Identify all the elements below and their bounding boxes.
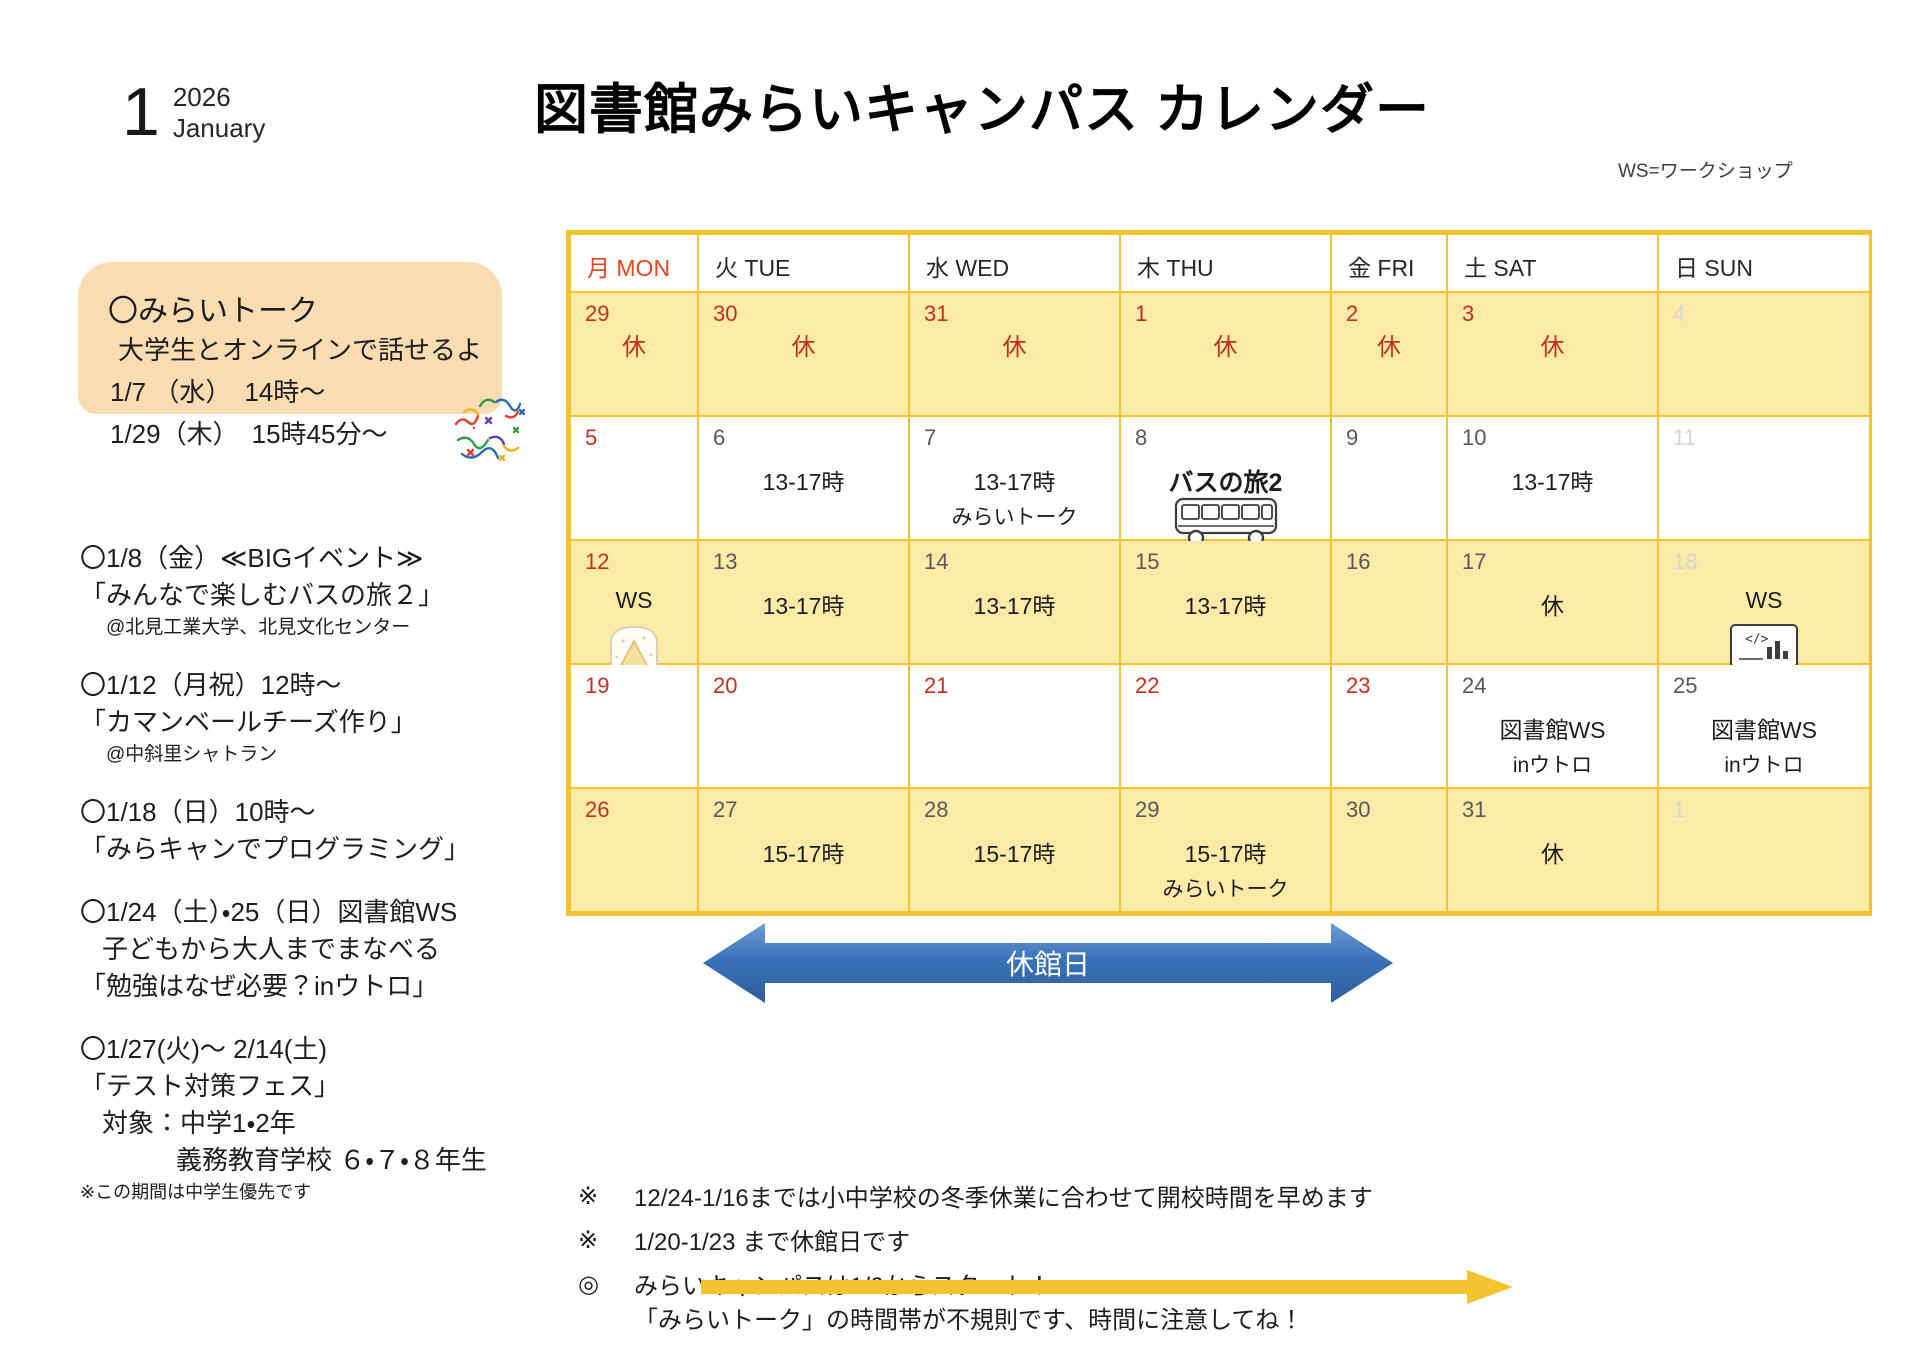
day-cell-23[interactable]: 23 [1331, 664, 1447, 788]
day-number: 29 [1135, 797, 1159, 823]
day-cell-14[interactable]: 14 13-17時 [909, 540, 1120, 664]
day-event-sub: inウトロ [1448, 749, 1657, 779]
callout-line1: 大学生とオンラインで話せるよ [118, 330, 482, 367]
day-event-main: 図書館WS [1659, 711, 1869, 745]
day-event-main: 休 [1448, 587, 1657, 621]
event-title: 〇1/18（日）10時〜 [80, 794, 510, 831]
day-event-sub: みらいトーク [1121, 873, 1330, 903]
day-number: 31 [924, 301, 948, 327]
month-name-label: January [173, 113, 266, 144]
day-number: 30 [713, 301, 737, 327]
column-header-sun: 日 SUN [1658, 234, 1870, 292]
footnote-row: ※ 12/24-1/16までは小中学校の冬季休業に合わせて開校時間を早めます [578, 1182, 1373, 1216]
column-header-thu: 木 THU [1120, 234, 1331, 292]
column-header-mon: 月 MON [570, 234, 698, 292]
calendar-week-row: 29 休 30 休 31 休 1 休 [570, 292, 1870, 416]
footnote-text: 12/24-1/16までは小中学校の冬季休業に合わせて開校時間を早めます [634, 1182, 1373, 1216]
day-number: 24 [1462, 673, 1486, 699]
col-jp: 火 [715, 255, 738, 281]
ws-legend-note: WS=ワークショップ [1618, 156, 1793, 183]
day-cell-2[interactable]: 2 休 [1331, 292, 1447, 416]
month-year-label: 2026 January [173, 82, 266, 144]
day-event-main: 休 [1448, 327, 1657, 362]
day-number: 1 [1673, 797, 1685, 823]
col-jp: 土 [1464, 255, 1487, 281]
event-title: 〇1/12（月祝）12時〜 [80, 667, 510, 704]
day-event-sub: みらいトーク [910, 501, 1119, 531]
year-label: 2026 [173, 82, 266, 113]
day-number: 28 [924, 797, 948, 823]
day-event-main: WS [1659, 587, 1869, 614]
day-cell-4[interactable]: 4 [1658, 292, 1870, 416]
event-venue: @北見工業大学、北見文化センター [80, 614, 510, 641]
footnote-subtext: 「みらいトーク」の時間帯が不規則です、時間に注意してね！ [634, 1304, 1303, 1338]
day-cell-7[interactable]: 7 13-17時 みらいトーク [909, 416, 1120, 540]
event-item: 〇1/8（金）≪BIGイベント≫ 「みんなで楽しむバスの旅２」 @北見工業大学、… [80, 540, 510, 641]
day-cell-1[interactable]: 1 休 [1120, 292, 1331, 416]
day-number: 20 [713, 673, 737, 699]
day-cell-5[interactable]: 5 [570, 416, 698, 540]
calendar-week-row: 26 27 15-17時 28 15-17時 29 15-17時 みらいトーク [570, 788, 1870, 912]
day-cell-29[interactable]: 29 休 [570, 292, 698, 416]
day-number: 23 [1346, 673, 1370, 699]
day-number: 10 [1462, 425, 1486, 451]
event-item: 〇1/18（日）10時〜 「みらキャンでプログラミング」 [80, 794, 510, 868]
day-event-main: 13-17時 [699, 463, 908, 497]
day-cell-31b[interactable]: 31 休 [1447, 788, 1658, 912]
footnote-mark: ◎ [578, 1270, 634, 1299]
day-cell-26[interactable]: 26 [570, 788, 698, 912]
day-event-main: 13-17時 [910, 587, 1119, 621]
col-en: TUE [744, 255, 790, 281]
day-cell-1b[interactable]: 1 [1658, 788, 1870, 912]
day-number: 18 [1673, 549, 1697, 575]
day-number: 13 [713, 549, 737, 575]
day-event-main: WS [571, 587, 697, 614]
event-item: 〇1/12（月祝）12時〜 「カマンベールチーズ作り」 @中斜里シャトラン [80, 667, 510, 768]
day-number: 15 [1135, 549, 1159, 575]
footnote-row: ※ 1/20-1/23 まで休館日です [578, 1226, 1373, 1260]
calendar-header-row: 月 MON 火 TUE 水 WED 木 THU [570, 234, 1870, 292]
col-en: SUN [1704, 255, 1753, 281]
day-cell-28[interactable]: 28 15-17時 [909, 788, 1120, 912]
event-subtitle: 「みんなで楽しむバスの旅２」 [80, 577, 510, 614]
day-event-main: 15-17時 [1121, 835, 1330, 869]
month-block: 1 2026 January [122, 78, 265, 146]
day-number: 21 [924, 673, 948, 699]
day-number: 7 [924, 425, 936, 451]
col-jp: 木 [1137, 255, 1160, 281]
day-cell-31[interactable]: 31 休 [909, 292, 1120, 416]
day-cell-18[interactable]: 18 WS </> [1658, 540, 1870, 664]
day-number: 29 [585, 301, 609, 327]
day-number: 16 [1346, 549, 1370, 575]
col-jp: 水 [926, 255, 949, 281]
day-cell-24[interactable]: 24 図書館WS inウトロ [1447, 664, 1658, 788]
event-title: 〇1/27(火)〜 2/14(土) [80, 1031, 510, 1068]
event-title: 〇1/8（金）≪BIGイベント≫ [80, 540, 510, 577]
day-number: 3 [1462, 301, 1474, 327]
day-cell-12[interactable]: 12 WS [570, 540, 698, 664]
day-cell-30[interactable]: 30 休 [698, 292, 909, 416]
day-event-main: 休 [1121, 327, 1330, 362]
day-event-main: 休 [1448, 835, 1657, 869]
event-line4: 義務教育学校 ６・７・８年生 [80, 1142, 510, 1179]
day-number: 30 [1346, 797, 1370, 823]
test-fes-period-arrow-icon [701, 1269, 1513, 1305]
day-number: 25 [1673, 673, 1697, 699]
calendar-grid: 月 MON 火 TUE 水 WED 木 THU [566, 230, 1872, 916]
event-subtitle: 子どもから大人までまなべる [80, 931, 510, 968]
day-cell-16[interactable]: 16 [1331, 540, 1447, 664]
day-number: 31 [1462, 797, 1486, 823]
day-cell-27[interactable]: 27 15-17時 [698, 788, 909, 912]
col-jp: 金 [1348, 255, 1371, 281]
day-number: 2 [1346, 301, 1358, 327]
day-number: 4 [1673, 301, 1685, 327]
col-en: MON [616, 255, 670, 281]
calendar-week-row: 5 6 13-17時 7 13-17時 みらいトーク 8 バスの旅2 [570, 416, 1870, 540]
day-cell-19[interactable]: 19 [570, 664, 698, 788]
col-en: FRI [1377, 255, 1414, 281]
day-number: 5 [585, 425, 597, 451]
column-header-sat: 土 SAT [1447, 234, 1658, 292]
callout-line3: 1/29（木） 15時45分〜 [110, 414, 387, 451]
day-number: 14 [924, 549, 948, 575]
day-event-main: 13-17時 [910, 463, 1119, 497]
day-number: 12 [585, 549, 609, 575]
day-cell-11[interactable]: 11 [1658, 416, 1870, 540]
day-cell-6[interactable]: 6 13-17時 [698, 416, 909, 540]
column-header-wed: 水 WED [909, 234, 1120, 292]
day-cell-25[interactable]: 25 図書館WS inウトロ [1658, 664, 1870, 788]
day-number: 22 [1135, 673, 1159, 699]
callout-line2: 1/7 （水） 14時〜 [110, 372, 325, 409]
day-number: 26 [585, 797, 609, 823]
day-event-sub: inウトロ [1659, 749, 1869, 779]
day-number: 19 [585, 673, 609, 699]
day-number: 6 [713, 425, 725, 451]
col-en: SAT [1493, 255, 1536, 281]
day-cell-8[interactable]: 8 バスの旅2 [1120, 416, 1331, 540]
day-event-main: 13-17時 [699, 587, 908, 621]
day-number: 1 [1135, 301, 1147, 327]
calendar-page: 1 2026 January 図書館みらいキャンパス カレンダー WS=ワークシ… [0, 0, 1920, 1357]
column-header-tue: 火 TUE [698, 234, 909, 292]
footnotes: ※ 12/24-1/16までは小中学校の冬季休業に合わせて開校時間を早めます ※… [578, 1182, 1373, 1348]
day-cell-22[interactable]: 22 [1120, 664, 1331, 788]
event-item: 〇1/24（土）・25（日）図書館WS 子どもから大人までまなべる 「勉強はなぜ… [80, 894, 510, 1005]
confetti-icon [444, 388, 534, 466]
event-list: 〇1/8（金）≪BIGイベント≫ 「みんなで楽しむバスの旅２」 @北見工業大学、… [80, 540, 510, 1231]
day-cell-9[interactable]: 9 [1331, 416, 1447, 540]
day-cell-20[interactable]: 20 [698, 664, 909, 788]
day-cell-21[interactable]: 21 [909, 664, 1120, 788]
callout-heading: 〇みらいトーク [108, 286, 318, 330]
day-number: 11 [1673, 425, 1696, 451]
event-venue: @中斜里シャトラン [80, 741, 510, 768]
svg-text:</>: </> [1745, 632, 1769, 647]
day-number: 8 [1135, 425, 1147, 451]
calendar-week-row: 12 WS 13 13-17時 [570, 540, 1870, 664]
closure-period-label: 休館日 [703, 921, 1393, 1005]
day-cell-30b[interactable]: 30 [1331, 788, 1447, 912]
column-header-fri: 金 FRI [1331, 234, 1447, 292]
col-jp: 日 [1675, 255, 1698, 281]
col-en: THU [1166, 255, 1213, 281]
day-cell-3[interactable]: 3 休 [1447, 292, 1658, 416]
col-en: WED [955, 255, 1009, 281]
event-title: 〇1/24（土）・25（日）図書館WS [80, 894, 510, 931]
day-event-main: 15-17時 [910, 835, 1119, 869]
day-number: 17 [1462, 549, 1486, 575]
day-cell-15[interactable]: 15 13-17時 [1120, 540, 1331, 664]
event-subtitle: 「みらキャンでプログラミング」 [80, 831, 510, 868]
day-event-main: 休 [699, 327, 908, 362]
event-line3: 「勉強はなぜ必要？inウトロ」 [80, 968, 510, 1005]
day-event-main: 休 [571, 327, 697, 362]
day-cell-13[interactable]: 13 13-17時 [698, 540, 909, 664]
day-event-main: 13-17時 [1448, 463, 1657, 497]
event-line3: 対象：中学1・2年 [80, 1105, 510, 1142]
day-cell-29b[interactable]: 29 15-17時 みらいトーク [1120, 788, 1331, 912]
page-title: 図書館みらいキャンパス カレンダー [452, 78, 1512, 142]
day-event-main: 図書館WS [1448, 711, 1657, 745]
day-event-main: 13-17時 [1121, 587, 1330, 621]
event-item: 〇1/27(火)〜 2/14(土) 「テスト対策フェス」 対象：中学1・2年 義… [80, 1031, 510, 1205]
day-cell-17[interactable]: 17 休 [1447, 540, 1658, 664]
day-cell-10[interactable]: 10 13-17時 [1447, 416, 1658, 540]
day-number: 27 [713, 797, 737, 823]
event-subtitle: 「テスト対策フェス」 [80, 1068, 510, 1105]
event-subtitle: 「カマンベールチーズ作り」 [80, 704, 510, 741]
day-event-main: 休 [1332, 327, 1446, 362]
day-event-main: 休 [910, 327, 1119, 362]
month-number: 1 [122, 78, 159, 146]
calendar-week-row: 19 20 21 22 23 24 [570, 664, 1870, 788]
footnote-mark: ※ [578, 1182, 634, 1211]
footnote-mark: ※ [578, 1226, 634, 1255]
col-jp: 月 [587, 255, 610, 281]
event-note: ※この期間は中学生優先です [80, 1179, 510, 1205]
day-number: 9 [1346, 425, 1358, 451]
day-event-main: 15-17時 [699, 835, 908, 869]
footnote-text: 1/20-1/23 まで休館日です [634, 1226, 910, 1260]
